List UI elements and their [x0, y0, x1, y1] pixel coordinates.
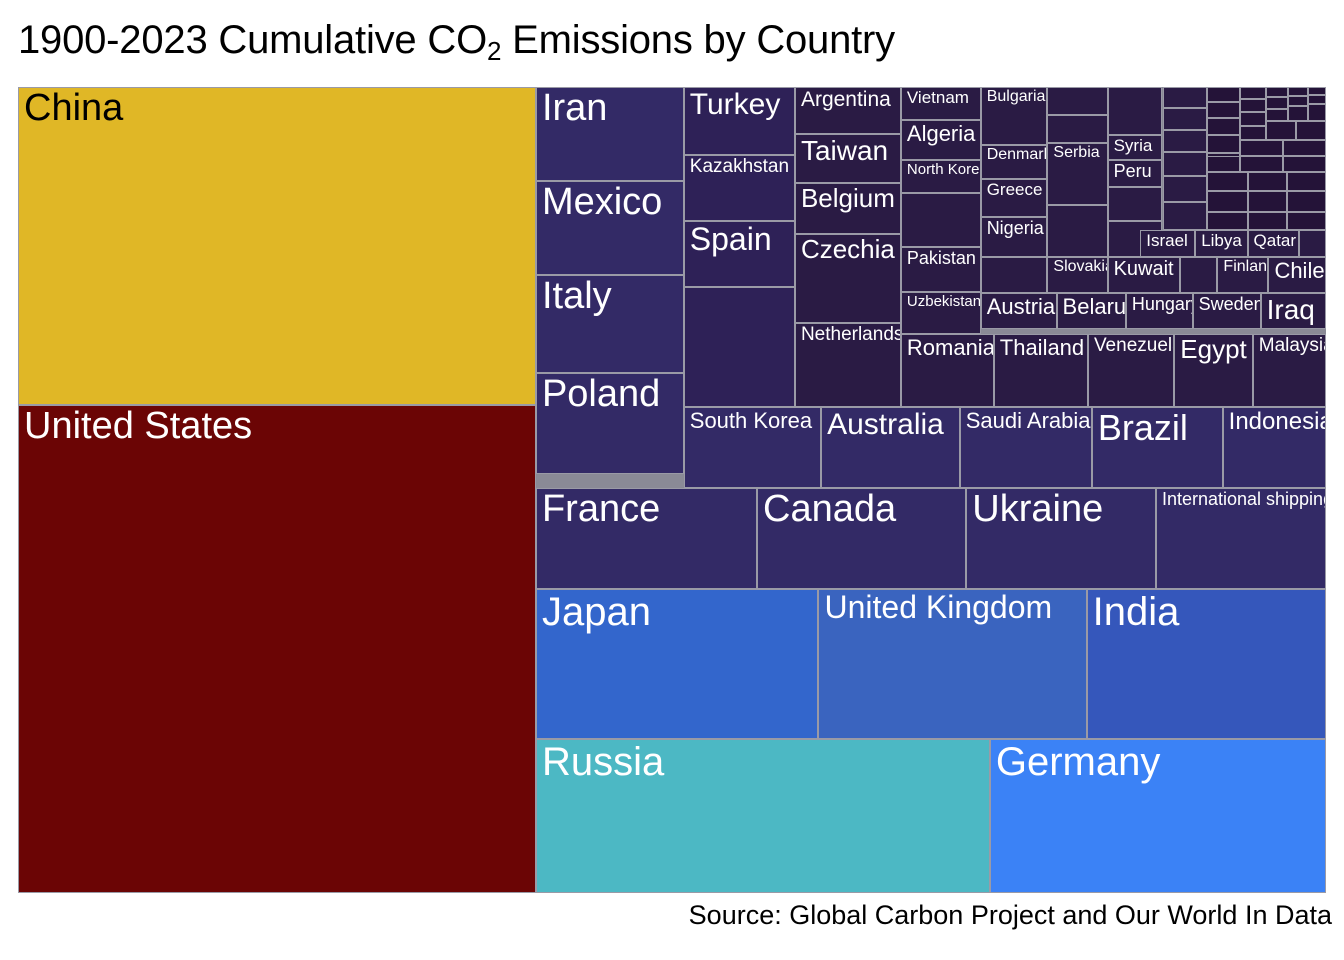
treemap-tile-unlabeled-78[interactable] — [1283, 156, 1326, 172]
treemap-tile-unlabeled-64[interactable] — [1288, 96, 1308, 106]
treemap-tile-unlabeled-66[interactable] — [1308, 95, 1326, 104]
treemap-tile-label: Germany — [996, 741, 1323, 783]
treemap-tile-kazakhstan[interactable]: Kazakhstan — [684, 155, 795, 221]
treemap-tile-algeria[interactable]: Algeria — [901, 120, 981, 159]
treemap-tile-unlabeled-75[interactable] — [1287, 172, 1326, 191]
treemap-tile-netherlands[interactable]: Netherlands — [795, 323, 901, 407]
treemap-tile-brazil[interactable]: Brazil — [1092, 407, 1223, 488]
title-subscript: 2 — [487, 36, 501, 66]
treemap-tile-unlabeled-70[interactable] — [1296, 121, 1326, 140]
treemap-tile-label: Taiwan — [801, 136, 898, 165]
treemap-tile-egypt[interactable]: Egypt — [1174, 334, 1252, 407]
treemap-tile-label: Italy — [542, 277, 681, 317]
treemap-tile-vietnam[interactable]: Vietnam — [901, 87, 981, 120]
treemap-tile-slovakia[interactable]: Slovakia — [1047, 257, 1107, 293]
treemap-tile-label: Iraq — [1267, 295, 1323, 324]
treemap-tile-unlabeled-26[interactable] — [1047, 87, 1107, 115]
treemap-tile-unlabeled-56[interactable] — [1240, 87, 1266, 99]
treemap-tile-unlabeled-39[interactable] — [1163, 130, 1207, 153]
treemap-tile-label: Ukraine — [972, 490, 1153, 530]
treemap-tile-austria[interactable]: Austria — [981, 293, 1057, 328]
treemap-tile-denmark[interactable]: Denmark — [981, 145, 1048, 179]
treemap-tile-unlabeled-58[interactable] — [1240, 112, 1266, 126]
treemap-tile-label: France — [542, 490, 754, 530]
treemap-tile-germany[interactable]: Germany — [990, 739, 1326, 893]
treemap-tile-chile[interactable]: Chile — [1268, 257, 1326, 293]
treemap-tile-united-states[interactable]: United States — [18, 405, 536, 893]
treemap-tile-unlabeled-27[interactable] — [1047, 115, 1107, 142]
treemap-tile-czechia[interactable]: Czechia — [795, 234, 901, 323]
treemap-tile-qatar[interactable]: Qatar — [1248, 230, 1299, 257]
treemap-tile-unlabeled-80[interactable] — [1207, 191, 1248, 212]
treemap-tile-unlabeled-69[interactable] — [1266, 121, 1296, 140]
treemap-tile-uzbekistan[interactable]: Uzbekistan — [901, 292, 981, 334]
treemap-tile-label: Netherlands — [801, 325, 898, 345]
treemap-tile-unlabeled-59[interactable] — [1240, 126, 1266, 141]
treemap-chart: ChinaUnited StatesIranMexicoItalyPolandT… — [18, 87, 1326, 893]
treemap-tile-nigeria[interactable]: Nigeria — [981, 217, 1048, 257]
treemap-tile-label: Algeria — [907, 122, 978, 145]
treemap-tile-unlabeled-83[interactable] — [1207, 212, 1248, 230]
treemap-tile-syria[interactable]: Syria — [1108, 135, 1163, 161]
treemap-tile-ukraine[interactable]: Ukraine — [966, 488, 1156, 589]
treemap-tile-unlabeled-73[interactable] — [1207, 172, 1248, 191]
treemap-tile-argentina[interactable]: Argentina — [795, 87, 901, 134]
title-prefix: 1900-2023 Cumulative CO — [18, 18, 487, 62]
treemap-tile-unlabeled-67[interactable] — [1240, 140, 1283, 155]
treemap-tile-unlabeled-42[interactable] — [1163, 202, 1207, 229]
treemap-tile-unlabeled-71[interactable] — [1288, 106, 1308, 121]
treemap-tile-poland[interactable]: Poland — [536, 373, 684, 474]
treemap-tile-unlabeled-57[interactable] — [1240, 99, 1266, 112]
treemap-tile-label: South Korea — [690, 409, 818, 432]
treemap-tile-label: United States — [24, 407, 533, 447]
treemap-tile-japan[interactable]: Japan — [536, 589, 819, 739]
treemap-tile-iran[interactable]: Iran — [536, 87, 684, 181]
treemap-tile-romania[interactable]: Romania — [901, 334, 994, 407]
treemap-tile-label: Kazakhstan — [690, 157, 792, 177]
page-title: 1900-2023 Cumulative CO2 Emissions by Co… — [18, 8, 1328, 78]
treemap-tile-unlabeled-34[interactable] — [1108, 187, 1163, 221]
treemap-tile-unlabeled-31[interactable] — [1108, 87, 1163, 135]
treemap-tile-australia[interactable]: Australia — [821, 407, 960, 488]
treemap-tile-south-korea[interactable]: South Korea — [684, 407, 821, 488]
treemap-tile-venezuela[interactable]: Venezuela — [1088, 334, 1174, 407]
treemap-tile-label: Pakistan — [907, 249, 978, 268]
treemap-tile-unlabeled-68[interactable] — [1283, 140, 1326, 155]
treemap-tile-mexico[interactable]: Mexico — [536, 181, 684, 274]
treemap-tile-label: Indonesia — [1229, 409, 1323, 434]
treemap-tile-label: Hungary — [1132, 295, 1190, 314]
treemap-tile-label: Greece — [987, 181, 1045, 199]
treemap-tile-label: Venezuela — [1094, 336, 1171, 356]
treemap-tile-italy[interactable]: Italy — [536, 275, 684, 373]
treemap-tile-label: Argentina — [801, 89, 898, 111]
treemap-tile-unlabeled-52[interactable] — [1207, 118, 1240, 135]
treemap-tile-unlabeled-60[interactable] — [1266, 87, 1288, 97]
treemap-tile-belgium[interactable]: Belgium — [795, 183, 901, 234]
treemap-tile-label: Bulgaria — [987, 89, 1045, 106]
treemap-tile-finland[interactable]: Finland — [1217, 257, 1268, 293]
treemap-tile-bulgaria[interactable]: Bulgaria — [981, 87, 1048, 145]
treemap-tile-unlabeled-50[interactable] — [1207, 87, 1240, 102]
treemap-tile-united-kingdom[interactable]: United Kingdom — [818, 589, 1086, 739]
treemap-tile-label: Austria — [987, 295, 1054, 318]
treemap-tile-malaysia[interactable]: Malaysia — [1253, 334, 1326, 407]
treemap-tile-label: Japan — [542, 591, 816, 633]
treemap-tile-iraq[interactable]: Iraq — [1261, 293, 1326, 328]
treemap-tile-label: Sweden — [1199, 295, 1258, 314]
treemap-tile-unlabeled-29[interactable] — [1047, 205, 1107, 257]
treemap-tile-label: Slovakia — [1053, 259, 1104, 276]
treemap-tile-unlabeled-46[interactable] — [1299, 230, 1326, 257]
treemap-tile-label: Egypt — [1180, 336, 1249, 363]
treemap-tile-taiwan[interactable]: Taiwan — [795, 134, 901, 183]
treemap-tile-label: Nigeria — [987, 219, 1045, 238]
treemap-tile-turkey[interactable]: Turkey — [684, 87, 795, 155]
treemap-tile-label: Serbia — [1053, 145, 1104, 162]
source-note: Source: Global Carbon Project and Our Wo… — [0, 900, 1332, 931]
treemap-tile-unlabeled-84[interactable] — [1248, 212, 1287, 230]
treemap-tile-unlabeled-63[interactable] — [1288, 87, 1308, 96]
treemap-tile-unlabeled-62[interactable] — [1266, 109, 1288, 121]
treemap-tile-label: Mexico — [542, 183, 681, 223]
treemap-tile-label: Czechia — [801, 236, 898, 263]
treemap-tile-canada[interactable]: Canada — [757, 488, 966, 589]
treemap-tile-serbia[interactable]: Serbia — [1047, 143, 1107, 205]
treemap-tile-label: Qatar — [1254, 232, 1296, 250]
treemap-tile-peru[interactable]: Peru — [1108, 160, 1163, 187]
treemap-tile-unlabeled-38[interactable] — [1163, 108, 1207, 130]
treemap-tile-unlabeled-85[interactable] — [1287, 212, 1326, 230]
treemap-tile-label: Thailand — [1000, 336, 1085, 359]
treemap-tile-label: Canada — [763, 490, 963, 530]
treemap-tile-label: Australia — [827, 409, 957, 441]
treemap-tile-russia[interactable]: Russia — [536, 739, 990, 893]
treemap-tile-unlabeled-47[interactable] — [1180, 257, 1218, 293]
treemap-tile-unlabeled-77[interactable] — [1240, 156, 1283, 172]
treemap-tile-label: Russia — [542, 741, 987, 783]
treemap-tile-unlabeled-82[interactable] — [1287, 191, 1326, 212]
treemap-tile-label: Chile — [1274, 259, 1323, 282]
treemap-tile-label: International shipping — [1162, 490, 1323, 509]
treemap-tile-china[interactable]: China — [18, 87, 536, 405]
treemap-tile-label: Brazil — [1098, 409, 1220, 447]
treemap-tile-kuwait[interactable]: Kuwait — [1108, 257, 1180, 293]
treemap-tile-unlabeled-41[interactable] — [1163, 176, 1207, 202]
treemap-tile-north-korea[interactable]: North Korea — [901, 160, 981, 193]
treemap-tile-label: China — [24, 89, 533, 129]
treemap-tile-label: Iran — [542, 89, 681, 129]
treemap-tile-unlabeled-40[interactable] — [1163, 152, 1207, 176]
treemap-tile-label: Turkey — [690, 89, 792, 121]
treemap-tile-unlabeled-37[interactable] — [1163, 87, 1207, 108]
treemap-tile-pakistan[interactable]: Pakistan — [901, 247, 981, 291]
treemap-tile-israel[interactable]: Israel — [1140, 230, 1195, 257]
treemap-tile-label: Finland — [1223, 259, 1265, 276]
treemap-tile-label: Saudi Arabia — [966, 409, 1089, 432]
treemap-tile-unlabeled-65[interactable] — [1308, 87, 1326, 95]
treemap-tile-label: Poland — [542, 375, 681, 415]
treemap-tile-france[interactable]: France — [536, 488, 757, 589]
treemap-tile-label: United Kingdom — [824, 591, 1083, 625]
treemap-tile-indonesia[interactable]: Indonesia — [1223, 407, 1326, 488]
treemap-tile-label: Syria — [1114, 137, 1160, 155]
treemap-tile-thailand[interactable]: Thailand — [994, 334, 1088, 407]
treemap-tile-label: Belarus — [1063, 295, 1123, 318]
treemap-tile-saudi-arabia[interactable]: Saudi Arabia — [960, 407, 1092, 488]
treemap-tile-label: Israel — [1146, 232, 1192, 250]
treemap-tile-label: Spain — [690, 223, 792, 257]
treemap-tile-unlabeled-18[interactable] — [901, 193, 981, 248]
treemap-tile-hungary[interactable]: Hungary — [1126, 293, 1193, 328]
treemap-tile-india[interactable]: India — [1087, 589, 1326, 739]
treemap-tile-unlabeled-76[interactable] — [1207, 156, 1240, 172]
treemap-tile-label: North Korea — [907, 162, 978, 178]
treemap-tile-libya[interactable]: Libya — [1195, 230, 1247, 257]
treemap-tile-label: Vietnam — [907, 89, 978, 107]
title-suffix: Emissions by Country — [501, 18, 895, 62]
treemap-tile-unlabeled-9[interactable] — [684, 287, 795, 407]
treemap-tile-label: Libya — [1201, 232, 1244, 250]
treemap-tile-label: Uzbekistan — [907, 294, 978, 310]
treemap-tile-label: Peru — [1114, 162, 1160, 181]
treemap-tile-greece[interactable]: Greece — [981, 179, 1048, 217]
treemap-tile-spain[interactable]: Spain — [684, 221, 795, 287]
treemap-tile-unlabeled-74[interactable] — [1248, 172, 1287, 191]
treemap-tile-unlabeled-61[interactable] — [1266, 97, 1288, 108]
treemap-tile-unlabeled-81[interactable] — [1248, 191, 1287, 212]
treemap-tile-unlabeled-53[interactable] — [1207, 135, 1240, 153]
treemap-tile-label: India — [1093, 591, 1323, 633]
treemap-tile-label: Romania — [907, 336, 991, 359]
treemap-tile-label: Kuwait — [1114, 259, 1177, 280]
treemap-tile-unlabeled-25[interactable] — [981, 257, 1048, 293]
treemap-tile-label: Belgium — [801, 185, 898, 212]
treemap-tile-unlabeled-51[interactable] — [1207, 102, 1240, 118]
treemap-tile-sweden[interactable]: Sweden — [1193, 293, 1261, 328]
treemap-tile-belarus[interactable]: Belarus — [1057, 293, 1126, 328]
treemap-tile-unlabeled-72[interactable] — [1308, 104, 1326, 121]
treemap-tile-international-shipping[interactable]: International shipping — [1156, 488, 1326, 589]
treemap-tile-label: Malaysia — [1259, 336, 1323, 356]
treemap-tile-label: Denmark — [987, 147, 1045, 164]
